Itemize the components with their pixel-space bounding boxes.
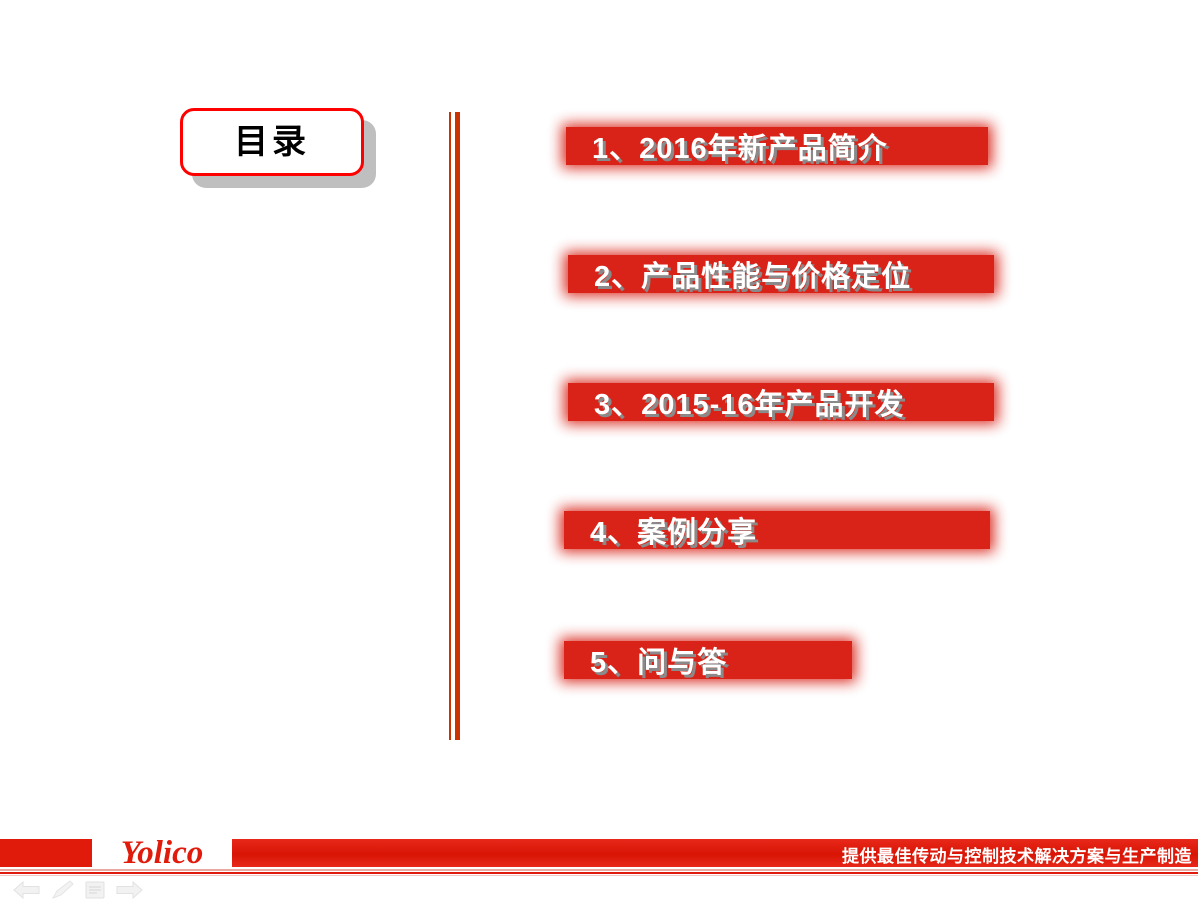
title-box-frame: 目录 xyxy=(180,108,364,176)
document-icon[interactable] xyxy=(82,879,108,901)
slide-canvas: 目录 1、2016年新产品简介 2、产品性能与价格定位 3、2015-16年产品… xyxy=(0,0,1198,899)
page-title: 目录 xyxy=(234,125,310,159)
agenda-item-label: 2、产品性能与价格定位 xyxy=(594,253,911,295)
footer-rule-main xyxy=(0,872,1198,874)
agenda-item-4[interactable]: 4、案例分享 xyxy=(560,508,994,552)
footer-tagline: 提供最佳传动与控制技术解决方案与生产制造 xyxy=(842,841,1192,867)
agenda-item-5[interactable]: 5、问与答 xyxy=(560,638,856,682)
footer-bar-left xyxy=(0,839,92,867)
brand-logo-text: Yolico xyxy=(121,837,203,870)
agenda-item-label: 5、问与答 xyxy=(590,639,727,681)
agenda-list: 1、2016年新产品简介 2、产品性能与价格定位 3、2015-16年产品开发 … xyxy=(560,112,1040,732)
divider-line-thin xyxy=(449,112,451,740)
slide-title-box: 目录 xyxy=(180,108,380,188)
agenda-item-2[interactable]: 2、产品性能与价格定位 xyxy=(564,252,998,296)
footer-rule-upper xyxy=(0,869,1198,871)
arrow-left-icon[interactable] xyxy=(12,879,42,901)
agenda-item-1[interactable]: 1、2016年新产品简介 xyxy=(562,124,992,168)
brand-logo: Yolico xyxy=(92,835,232,871)
pencil-icon[interactable] xyxy=(50,879,76,901)
agenda-item-label: 1、2016年新产品简介 xyxy=(592,125,888,167)
arrow-right-icon[interactable] xyxy=(114,879,144,901)
agenda-item-3[interactable]: 3、2015-16年产品开发 xyxy=(564,380,998,424)
slide-footer: Yolico 提供最佳传动与控制技术解决方案与生产制造 xyxy=(0,831,1198,899)
navigation-icons xyxy=(10,879,330,901)
agenda-item-label: 3、2015-16年产品开发 xyxy=(594,381,905,423)
footer-rule-lower xyxy=(0,875,1198,876)
divider-line-thick xyxy=(455,112,460,740)
vertical-divider xyxy=(449,112,461,740)
agenda-item-label: 4、案例分享 xyxy=(590,509,757,551)
